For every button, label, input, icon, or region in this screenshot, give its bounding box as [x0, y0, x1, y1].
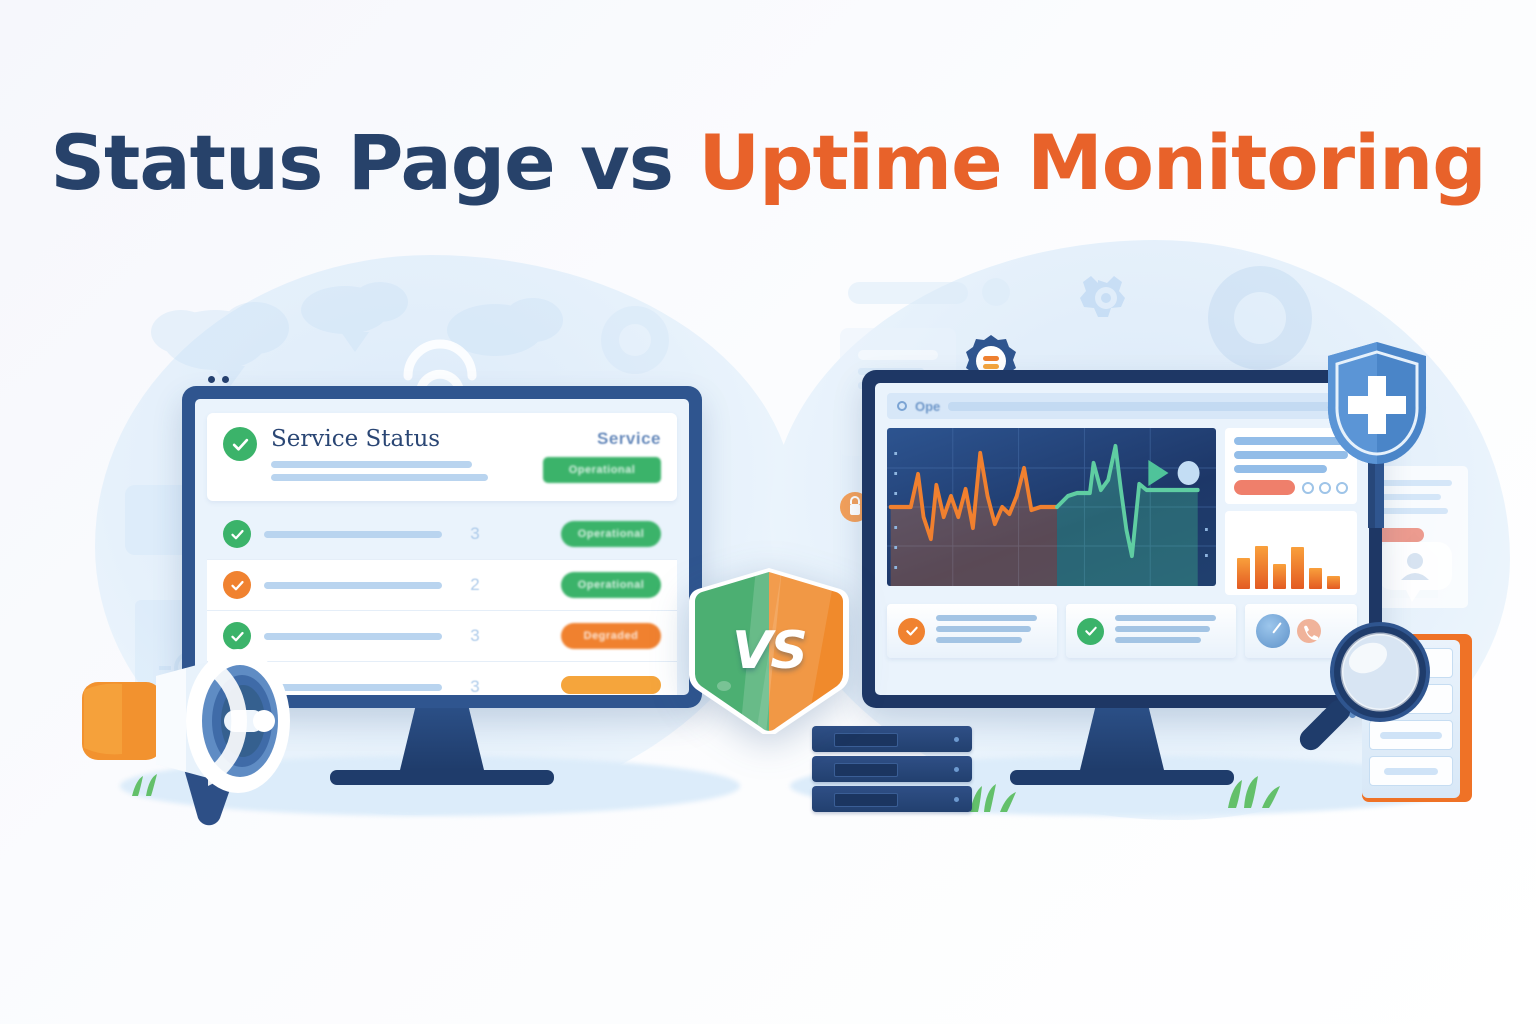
check-circle-icon [1077, 618, 1104, 645]
status-page-brand: Service Operational [543, 427, 661, 483]
page-title: Status Page vs Uptime Monitoring [0, 118, 1536, 207]
megaphone-icon [60, 620, 330, 830]
browser-url-bar[interactable]: Ope [887, 393, 1357, 419]
row-value: 3 [455, 524, 495, 544]
gear-icon-decor [1080, 276, 1125, 317]
server-unit [812, 756, 972, 782]
gauge-icon [1256, 614, 1290, 648]
status-badge[interactable]: Operational [561, 572, 661, 598]
check-circle-icon [223, 427, 257, 461]
play-icon [1148, 460, 1168, 486]
server-rack [812, 726, 972, 822]
status-badge[interactable]: Degraded [561, 623, 661, 649]
title-right-part: Uptime Monitoring [698, 118, 1485, 207]
status-page-header: Service Status Service Operational [207, 413, 677, 501]
monitor-indicator-dots-left [208, 376, 229, 383]
summary-card[interactable] [1066, 604, 1236, 658]
status-page-subtitle-lines [271, 461, 529, 481]
vs-badge: VS [686, 568, 852, 734]
table-row[interactable]: 2 Operational [207, 560, 677, 611]
url-placeholder [948, 402, 1347, 411]
summary-lines [936, 615, 1046, 648]
bar-chart-bars [1229, 519, 1351, 589]
summary-card[interactable] [887, 604, 1057, 658]
record-dot-icon [897, 401, 907, 411]
warning-check-icon [223, 571, 251, 599]
status-page-title: Service Status [271, 427, 529, 452]
summary-lines [1115, 615, 1225, 648]
response-time-timeline-chart[interactable] [887, 428, 1216, 586]
shield-plus-icon [1322, 338, 1432, 528]
alert-pill [1234, 480, 1295, 495]
brand-label: Service [543, 429, 661, 449]
monitor-base-right [1010, 770, 1234, 785]
server-unit [812, 786, 972, 812]
title-left-part: Status Page [50, 118, 554, 207]
dashboard-body [887, 428, 1357, 595]
row-value: 3 [455, 626, 495, 646]
row-value: 2 [455, 575, 495, 595]
warning-check-icon [898, 618, 925, 645]
check-circle-icon [223, 520, 251, 548]
progress-badge[interactable] [561, 676, 661, 694]
monitor-base-left [330, 770, 554, 785]
table-row[interactable]: 3 Operational [207, 509, 677, 560]
status-badge[interactable]: Operational [561, 521, 661, 547]
monitor-neck-left [400, 708, 484, 770]
header-status-badge[interactable]: Operational [543, 457, 661, 483]
monitor-neck-right [1080, 708, 1164, 770]
status-dot [1178, 461, 1200, 485]
series-uptime-area [1057, 446, 1198, 586]
url-text: Ope [915, 399, 940, 414]
magnifier-icon [1286, 610, 1446, 770]
title-vs-word: vs [555, 118, 699, 207]
row-value: 3 [455, 677, 495, 695]
